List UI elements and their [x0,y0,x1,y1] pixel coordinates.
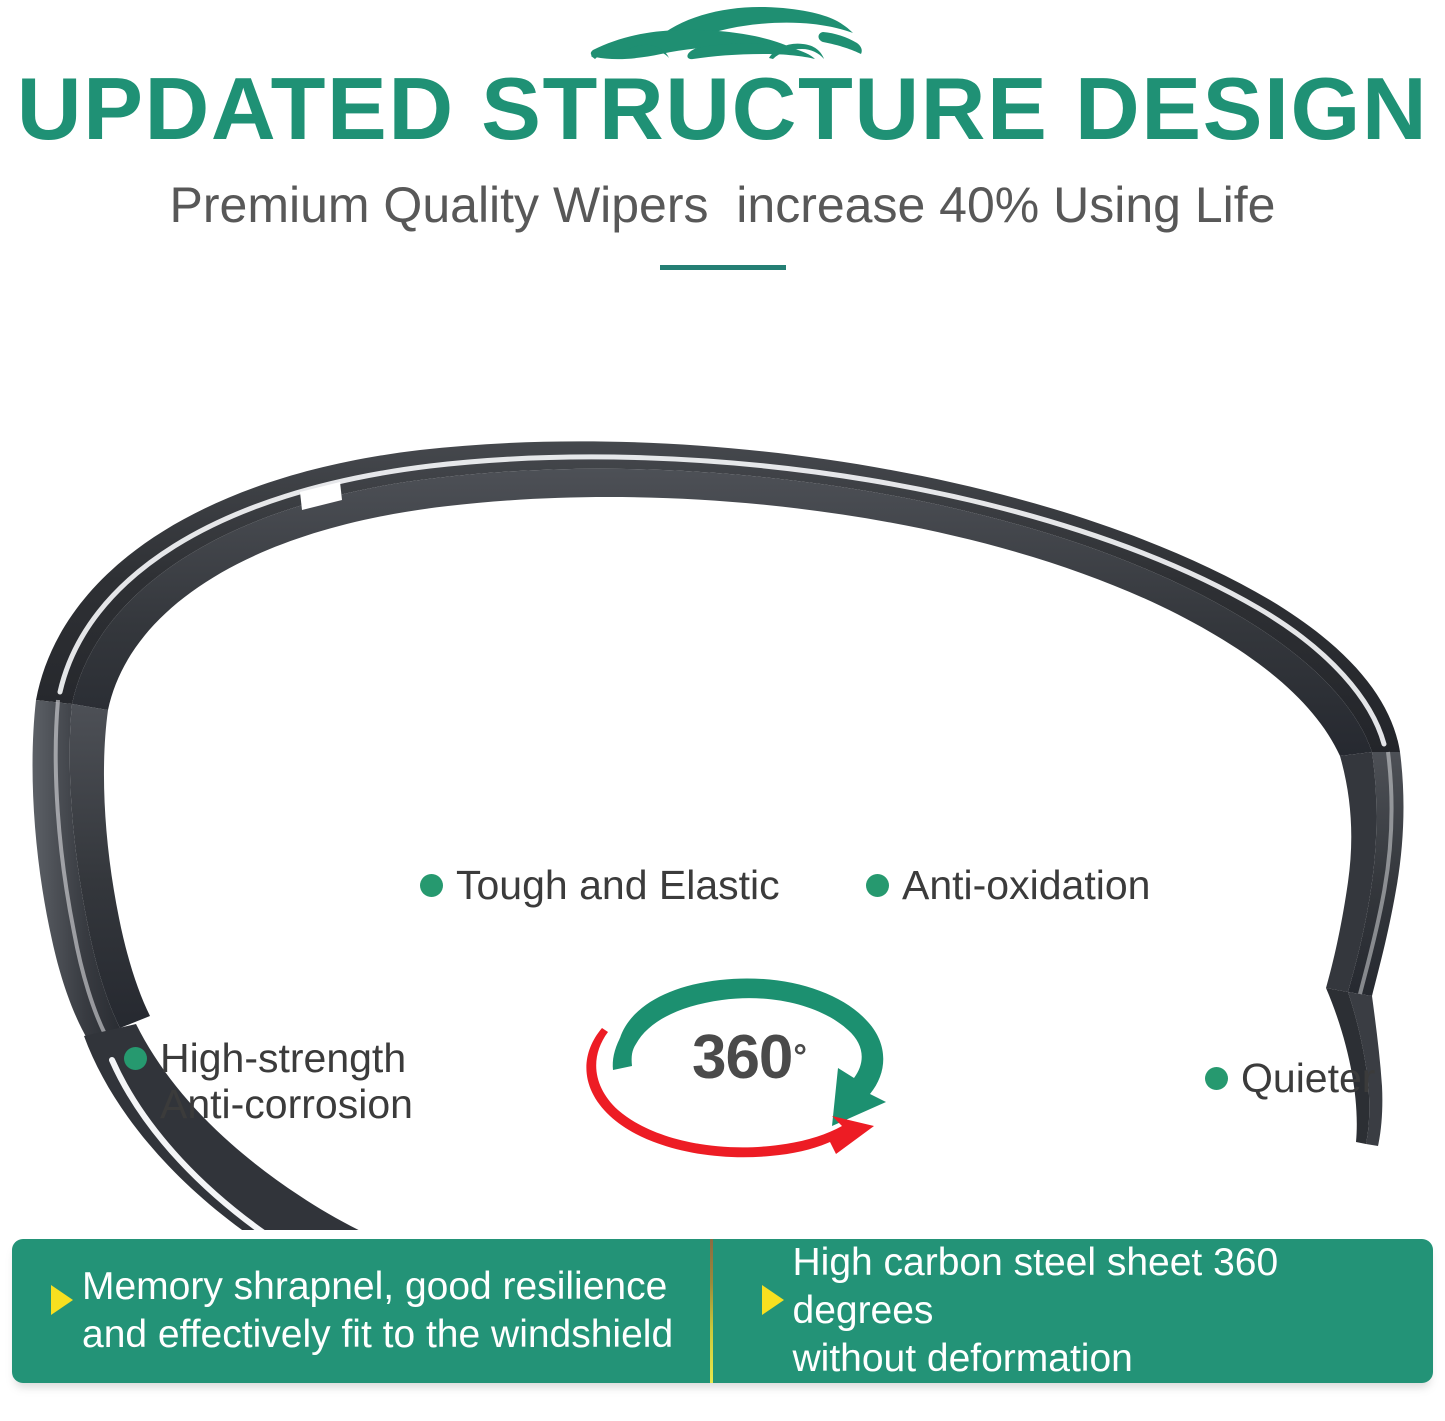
feature-label-anti-oxidation: Anti-oxidation [866,862,1150,908]
triangle-right-icon [762,1285,784,1315]
banner-item-text: Memory shrapnel, good resilience and eff… [82,1263,673,1359]
product-infographic-page: UPDATED STRUCTURE DESIGN Premium Quality… [0,0,1445,1421]
title-underline-divider [660,265,786,270]
bullet-dot-icon [1205,1067,1228,1090]
feature-label-text: Quieter [1241,1055,1375,1101]
feature-label-text: Anti-oxidation [902,862,1150,908]
banner-item-high-carbon-steel: High carbon steel sheet 360 degrees with… [723,1239,1434,1383]
banner-item-memory-shrapnel: Memory shrapnel, good resilience and eff… [12,1239,723,1383]
header-section: UPDATED STRUCTURE DESIGN Premium Quality… [0,0,1445,290]
feature-label-quieter: Quieter [1205,1055,1375,1101]
page-title: UPDATED STRUCTURE DESIGN [0,63,1445,155]
page-subtitle: Premium Quality Wipers increase 40% Usin… [0,176,1445,234]
feature-label-text: High-strength Anti-corrosion [160,1035,413,1127]
bullet-dot-icon [866,874,889,897]
product-illustration-area: Tough and Elastic Anti-oxidation High-st… [0,300,1445,1230]
badge-number: 360 [692,1022,792,1093]
360-degree-rotation-icon: 360° [574,960,914,1160]
triangle-right-icon [51,1285,73,1315]
degree-symbol: ° [793,1038,806,1077]
bullet-dot-icon [420,874,443,897]
feature-label-high-strength-anti-corrosion: High-strength Anti-corrosion [124,1035,413,1127]
badge-value: 360° [574,960,914,1160]
feature-label-text: Tough and Elastic [456,862,780,908]
bottom-feature-banner: Memory shrapnel, good resilience and eff… [12,1239,1433,1383]
banner-item-text: High carbon steel sheet 360 degrees with… [793,1239,1418,1383]
bullet-dot-icon [124,1047,147,1070]
banner-vertical-divider [710,1239,713,1383]
feature-label-tough-and-elastic: Tough and Elastic [420,862,780,908]
